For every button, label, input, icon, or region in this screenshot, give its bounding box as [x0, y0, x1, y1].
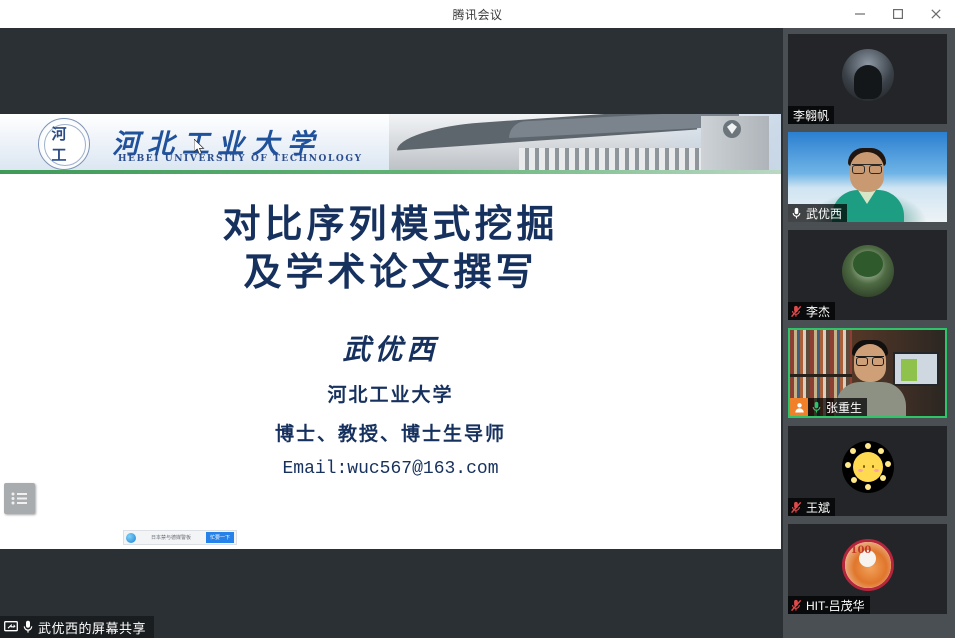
- participant-name: 李翱帆: [792, 107, 829, 124]
- browser-icon: [126, 533, 136, 543]
- window-controls: [841, 0, 955, 28]
- microphone-icon: [23, 620, 33, 634]
- university-seal-logo: 河工: [38, 118, 90, 170]
- host-badge: [790, 398, 808, 416]
- list-menu-toggle-button[interactable]: [4, 483, 35, 514]
- sun-cartoon-avatar: [842, 441, 894, 493]
- microphone-muted-icon: [788, 498, 805, 516]
- shared-screen-stage[interactable]: 河工 河北工业大学 HEBEI UNIVERSITY OF TECHNOLOGY…: [0, 28, 783, 638]
- participant-footer: HIT-吕茂华: [788, 596, 870, 614]
- browser-notification-bar[interactable]: 日本禁与德媒警板 忙要一下: [123, 530, 237, 545]
- participant-tile[interactable]: 100 HIT-吕茂华: [788, 524, 947, 614]
- tree-photo-avatar: [842, 245, 894, 297]
- presentation-slide: 河工 河北工业大学 HEBEI UNIVERSITY OF TECHNOLOGY…: [0, 114, 781, 549]
- red-circle-cartoon-avatar: 100: [842, 539, 894, 591]
- screen-share-label-text: 武优西的屏幕共享: [38, 618, 146, 637]
- campus-building-photo: [389, 114, 781, 174]
- speaker-affiliation: 河北工业大学: [0, 380, 781, 407]
- microphone-muted-icon: [788, 302, 805, 320]
- window-title: 腾讯会议: [452, 6, 502, 23]
- microphone-on-icon: [788, 204, 805, 222]
- participant-tile[interactable]: 王斌: [788, 426, 947, 516]
- screen-share-icon: [4, 621, 18, 633]
- participant-tile[interactable]: 武优西: [788, 132, 947, 222]
- slide-body: 对比序列模式挖掘 及学术论文撰写 武优西 河北工业大学 博士、教授、博士生导师 …: [0, 174, 781, 549]
- participant-name: 张重生: [825, 399, 862, 416]
- slide-title-line-2: 及学术论文撰写: [0, 248, 781, 296]
- participant-footer: 武优西: [788, 204, 847, 222]
- speaker-titles: 博士、教授、博士生导师: [0, 419, 781, 446]
- participant-tile[interactable]: 李翱帆: [788, 34, 947, 124]
- slide-banner: 河工 河北工业大学 HEBEI UNIVERSITY OF TECHNOLOGY: [0, 114, 781, 174]
- tencent-meeting-window: 腾讯会议: [0, 0, 955, 638]
- person-photo-avatar: [842, 49, 894, 101]
- participant-name: 武优西: [805, 205, 842, 222]
- microphone-on-icon: [808, 398, 825, 416]
- participant-name: HIT-吕茂华: [805, 597, 865, 614]
- university-name-en: HEBEI UNIVERSITY OF TECHNOLOGY: [118, 154, 363, 164]
- participant-footer: 王斌: [788, 498, 835, 516]
- participant-name: 王斌: [805, 499, 830, 516]
- speaker-name: 武优西: [0, 328, 781, 368]
- microphone-muted-icon: [788, 596, 805, 614]
- speaker-email: Email:wuc567@163.com: [0, 459, 781, 479]
- maximize-button[interactable]: [879, 0, 917, 28]
- notification-text: 日本禁与德媒警板: [139, 534, 203, 541]
- participant-footer: 张重生: [790, 398, 867, 416]
- participant-filmstrip[interactable]: 李翱帆 武优西: [783, 28, 955, 638]
- notification-action-button[interactable]: 忙要一下: [206, 532, 234, 543]
- participant-footer: 李翱帆: [788, 106, 834, 124]
- participant-tile-active-speaker[interactable]: 张重生: [788, 328, 947, 418]
- screen-share-label: 武优西的屏幕共享: [0, 616, 154, 638]
- participant-tile[interactable]: 李杰: [788, 230, 947, 320]
- slide-title-line-1: 对比序列模式挖掘: [0, 200, 781, 248]
- minimize-button[interactable]: [841, 0, 879, 28]
- slide-title: 对比序列模式挖掘 及学术论文撰写: [0, 174, 781, 296]
- participant-footer: 李杰: [788, 302, 835, 320]
- list-menu-icon: [11, 492, 28, 505]
- window-title-bar: 腾讯会议: [0, 0, 955, 28]
- participant-name: 李杰: [805, 303, 830, 320]
- close-button[interactable]: [917, 0, 955, 28]
